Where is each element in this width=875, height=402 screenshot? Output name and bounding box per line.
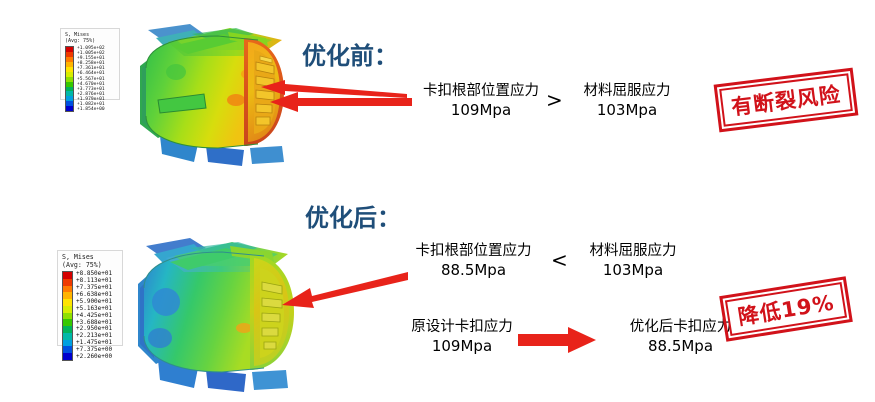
- legend-value-list: +1.095e+02+1.005e+02+9.155e+01+8.258e+01…: [77, 46, 105, 112]
- improvement-from: 原设计卡扣应力 109Mpa: [382, 318, 542, 356]
- measurement-before-label: 卡扣根部位置应力: [396, 82, 566, 101]
- legend-title-line2: (Avg: 75%): [62, 262, 118, 270]
- fea-model-after: [132, 218, 312, 402]
- limit-after: 材料屈服应力 103Mpa: [568, 242, 698, 280]
- contour-legend-after: S, Mises (Avg: 75%) +8.850e+01+8.113e+01…: [57, 250, 123, 346]
- legend-color-swatch: [63, 299, 72, 306]
- legend-color-swatch: [63, 272, 72, 279]
- slide-canvas: S, Mises (Avg: 75%) +1.095e+02+1.005e+02…: [0, 0, 875, 402]
- status-stamp-before: 有断裂风险: [714, 68, 859, 133]
- limit-before-label: 材料屈服应力: [562, 82, 692, 101]
- fea-model-after-svg: [132, 218, 312, 402]
- legend-color-swatch: [63, 279, 72, 286]
- legend-color-swatch: [63, 319, 72, 326]
- status-stamp-after: 降低19%: [719, 276, 853, 341]
- improvement-from-label: 原设计卡扣应力: [382, 318, 542, 337]
- legend-color-swatch: [63, 326, 72, 333]
- legend-color-swatch: [66, 106, 73, 111]
- legend-color-swatch: [63, 333, 72, 340]
- measurement-after: 卡扣根部位置应力 88.5Mpa: [386, 242, 561, 280]
- measurement-after-value: 88.5Mpa: [386, 261, 561, 280]
- legend-color-bar: [65, 46, 74, 112]
- comparator-after: <: [551, 248, 568, 272]
- comparator-before: >: [546, 88, 563, 112]
- fea-model-before: [132, 12, 304, 172]
- limit-before: 材料屈服应力 103Mpa: [562, 82, 692, 120]
- legend-title-line2: (Avg: 75%): [65, 38, 115, 44]
- status-stamp-after-text: 降低19%: [736, 287, 837, 332]
- limit-before-value: 103Mpa: [562, 101, 692, 120]
- legend-color-swatch: [63, 313, 72, 320]
- section-heading-before: 优化前：: [302, 36, 398, 71]
- legend-value-list: +8.850e+01+8.113e+01+7.375e+01+6.638e+01…: [76, 271, 112, 361]
- limit-after-value: 103Mpa: [568, 261, 698, 280]
- legend-color-swatch: [63, 340, 72, 347]
- legend-value: +1.854e+00: [77, 107, 105, 112]
- legend-color-bar: [62, 271, 73, 361]
- fea-model-before-svg: [132, 12, 304, 172]
- section-heading-after: 优化后：: [305, 198, 401, 233]
- status-stamp-after-frame: 降低19%: [725, 282, 847, 336]
- legend-value: +2.260e+00: [76, 354, 112, 361]
- measurement-before-value: 109Mpa: [396, 101, 566, 120]
- status-stamp-before-frame: 有断裂风险: [719, 73, 853, 127]
- measurement-before: 卡扣根部位置应力 109Mpa: [396, 82, 566, 120]
- legend-color-swatch: [63, 306, 72, 313]
- limit-after-label: 材料屈服应力: [568, 242, 698, 261]
- contour-legend-before: S, Mises (Avg: 75%) +1.095e+02+1.005e+02…: [60, 28, 120, 100]
- legend-color-swatch: [63, 346, 72, 353]
- legend-color-swatch: [63, 292, 72, 299]
- legend-color-swatch: [63, 286, 72, 293]
- improvement-from-value: 109Mpa: [382, 337, 542, 356]
- status-stamp-before-text: 有断裂风险: [730, 78, 843, 121]
- measurement-after-label: 卡扣根部位置应力: [386, 242, 561, 261]
- legend-color-swatch: [63, 353, 72, 360]
